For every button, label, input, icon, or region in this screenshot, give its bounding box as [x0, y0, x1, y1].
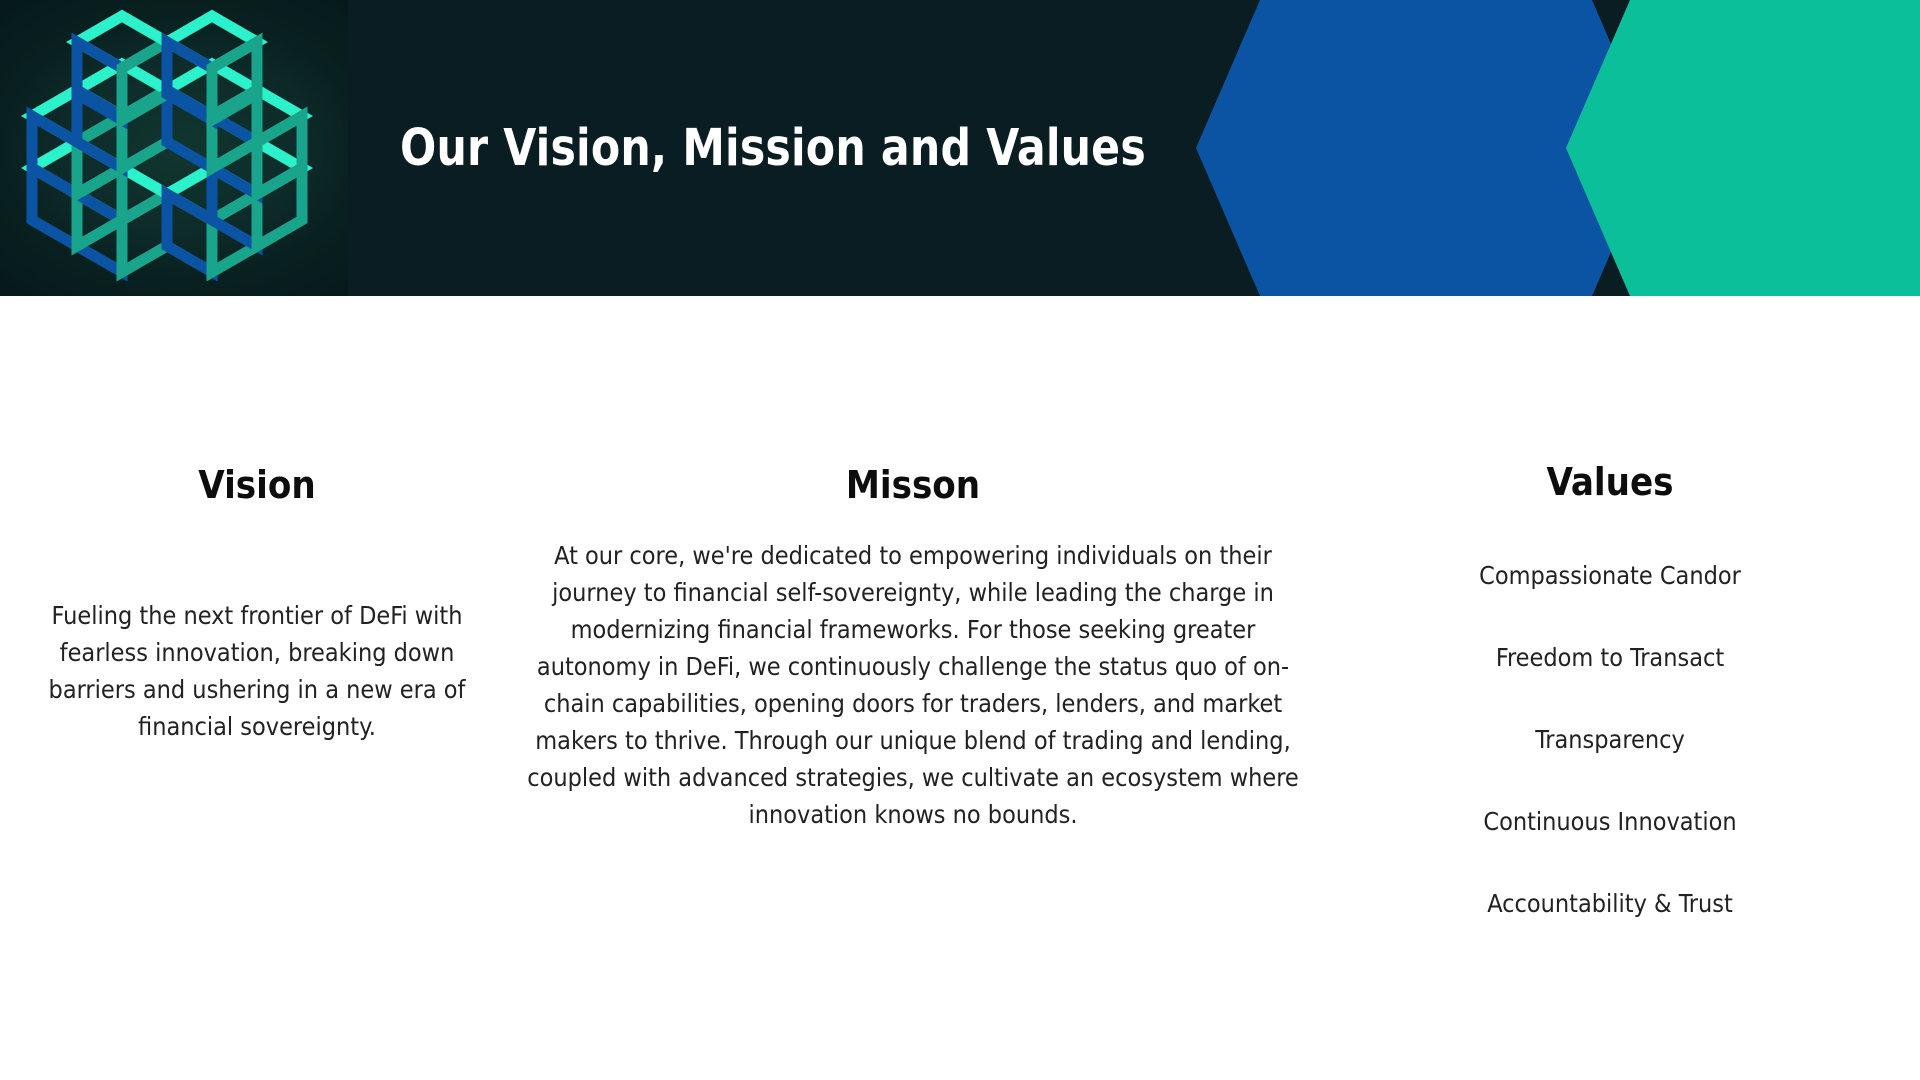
column-values: Values Compassionate Candor Freedom to T…: [1400, 296, 1820, 945]
column-vision: Vision Fueling the next frontier of DeFi…: [32, 296, 482, 745]
values-list: Compassionate Candor Freedom to Transact…: [1400, 535, 1820, 945]
header-bar: Our Vision, Mission and Values: [0, 0, 1920, 296]
decorative-hexagon-teal: [1566, 0, 1920, 296]
mission-body: At our core, we're dedicated to empoweri…: [520, 537, 1306, 833]
list-item: Continuous Innovation: [1400, 781, 1820, 863]
logo-tile: [0, 0, 348, 296]
values-heading: Values: [1400, 463, 1820, 501]
page-title: Our Vision, Mission and Values: [400, 0, 1146, 296]
list-item: Accountability & Trust: [1400, 863, 1820, 945]
list-item: Compassionate Candor: [1400, 535, 1820, 617]
content-area: Vision Fueling the next frontier of DeFi…: [0, 296, 1920, 1080]
mission-heading: Misson: [520, 466, 1306, 504]
list-item: Freedom to Transact: [1400, 617, 1820, 699]
vision-heading: Vision: [32, 466, 482, 504]
list-item: Transparency: [1400, 699, 1820, 781]
column-mission: Misson At our core, we're dedicated to e…: [520, 296, 1306, 833]
isometric-cube-cluster-logo: [12, 4, 342, 294]
vision-body: Fueling the next frontier of DeFi with f…: [32, 597, 482, 745]
